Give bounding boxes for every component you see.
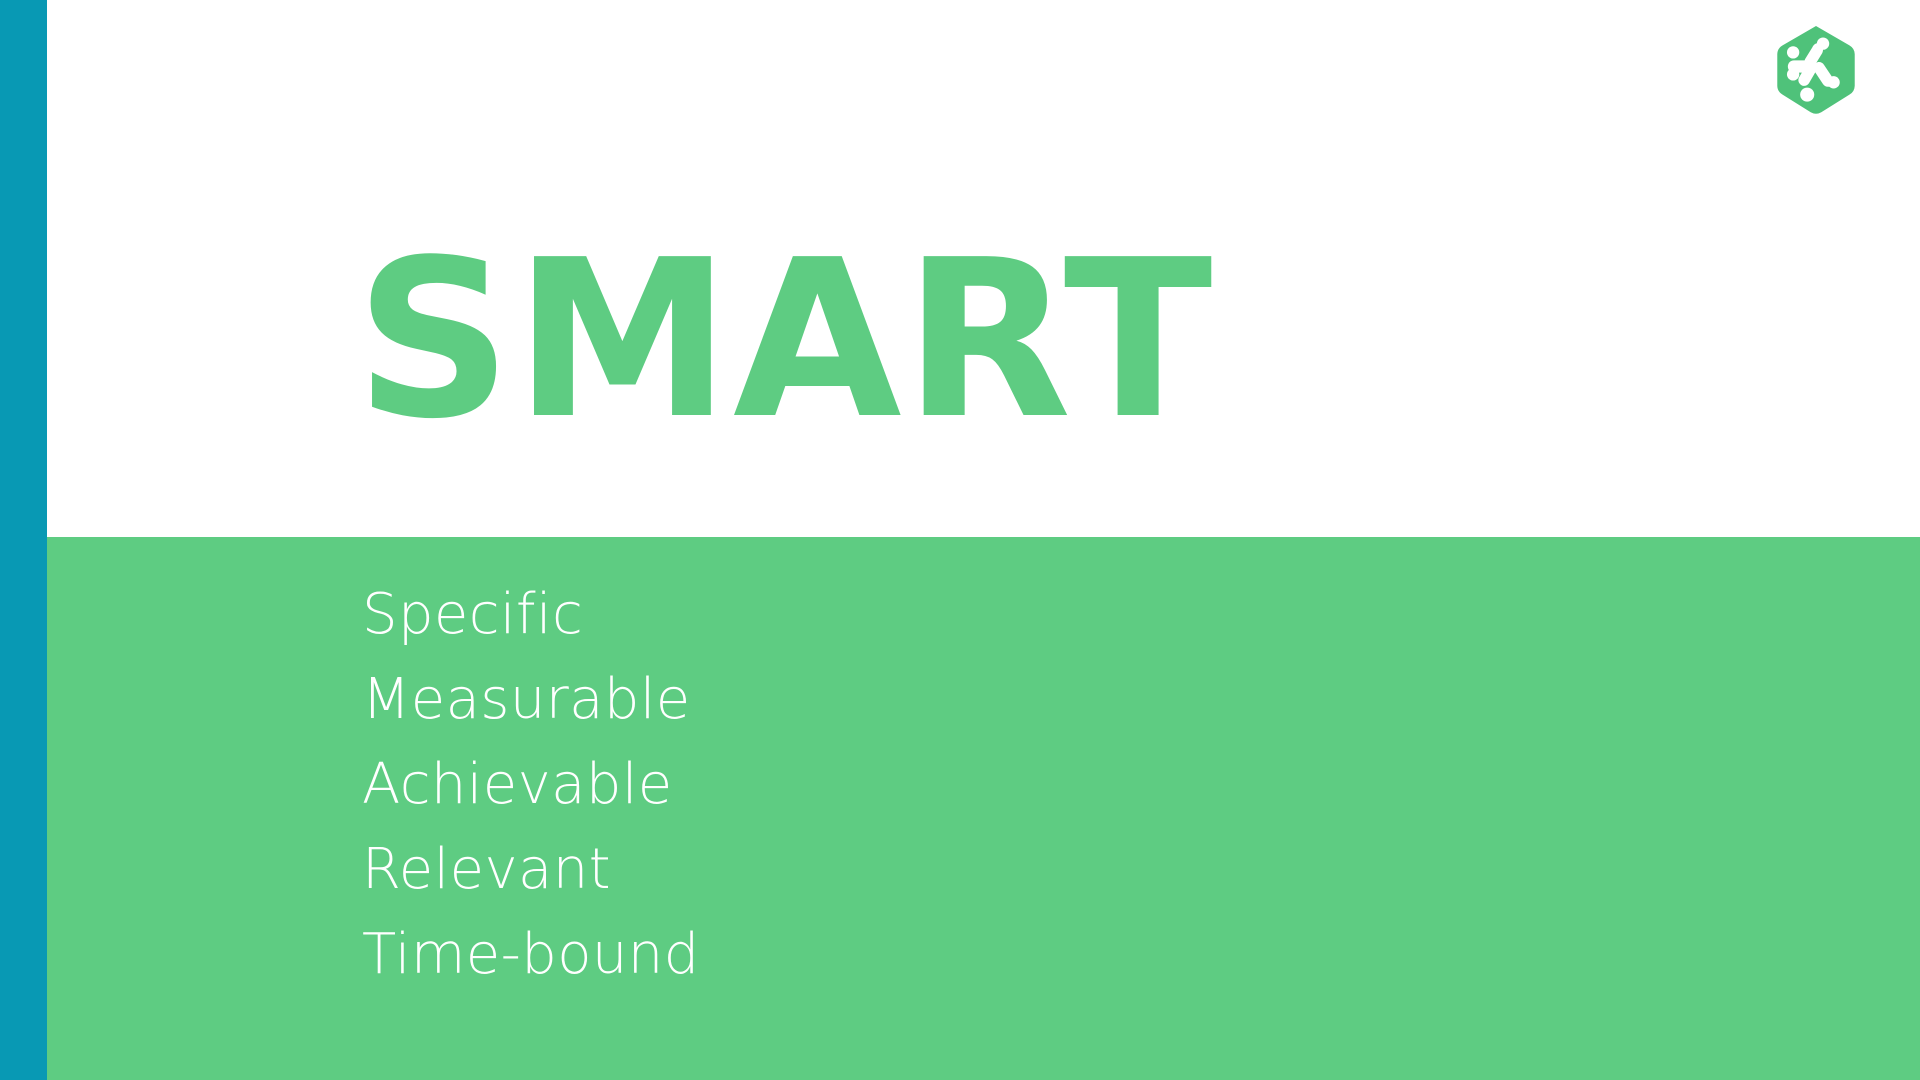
smart-criteria-list: Specific Measurable Achievable Relevant … bbox=[362, 572, 700, 997]
left-accent-bar bbox=[0, 0, 47, 1080]
list-item: Achievable bbox=[362, 742, 700, 827]
hexagon-tree-icon bbox=[1772, 24, 1860, 116]
page-title: SMART bbox=[355, 232, 1555, 450]
list-item: Time-bound bbox=[362, 912, 700, 997]
list-item: Relevant bbox=[362, 827, 700, 912]
content-panel bbox=[47, 537, 1920, 1080]
page-title-container: SMART bbox=[355, 232, 1555, 462]
list-item: Specific bbox=[362, 572, 700, 657]
slide-canvas: SMART Specific Measurable Achievable Rel… bbox=[0, 0, 1920, 1080]
list-item: Measurable bbox=[362, 657, 700, 742]
brand-logo bbox=[1772, 24, 1860, 116]
